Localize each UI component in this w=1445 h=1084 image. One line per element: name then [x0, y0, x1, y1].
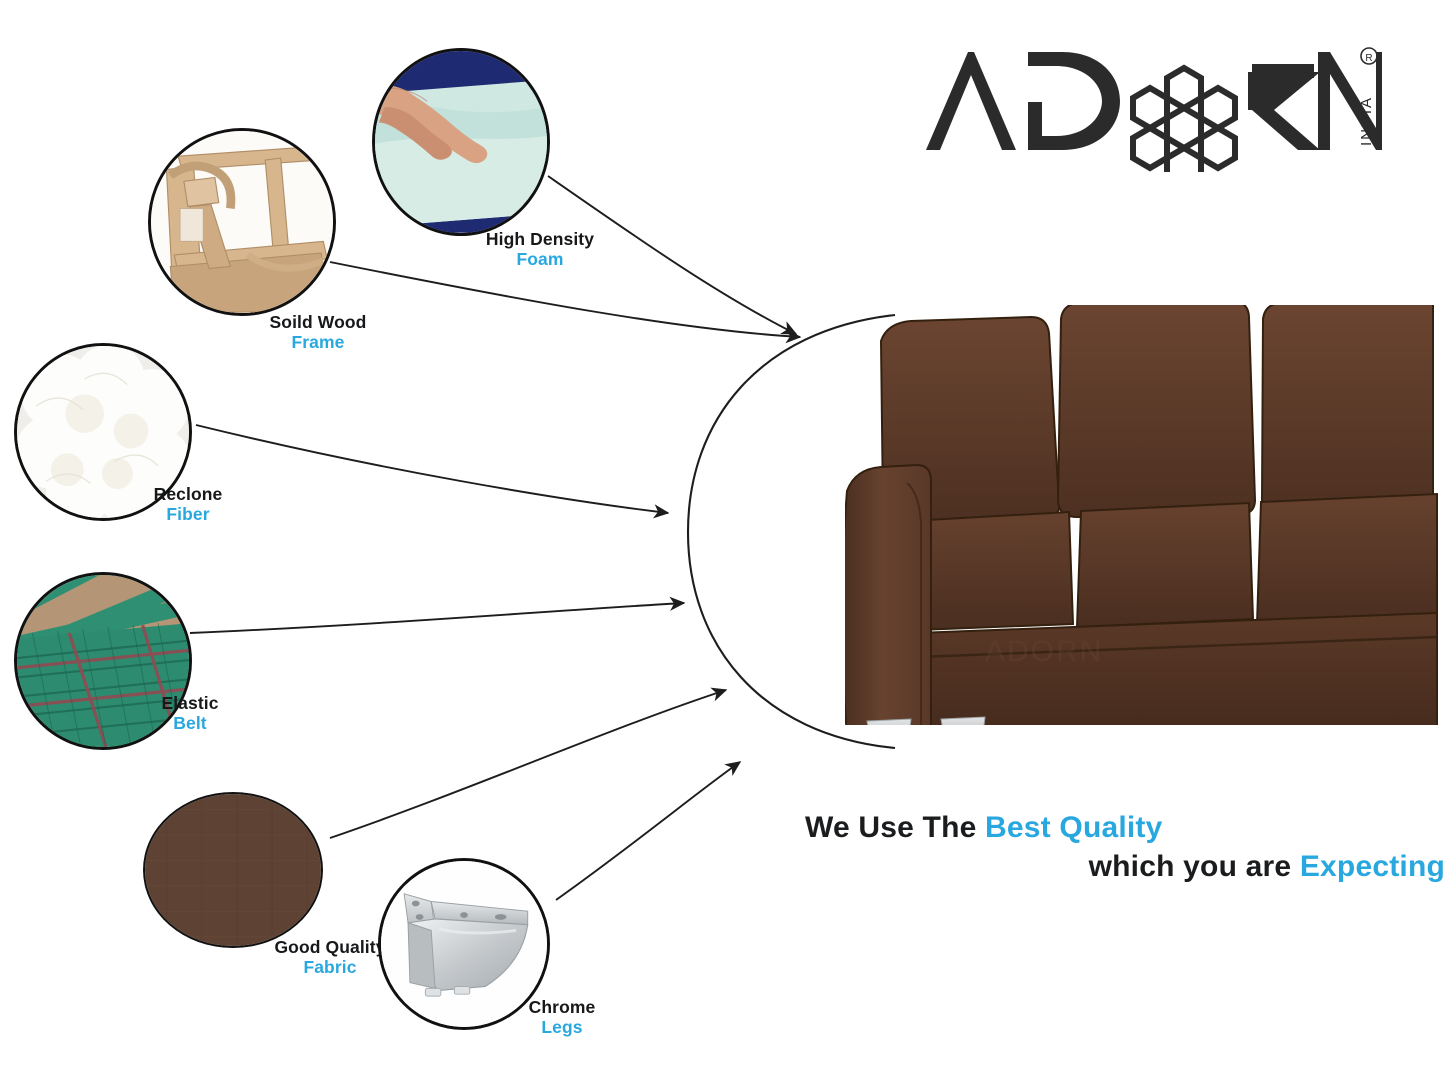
foam-hand-press-icon [375, 51, 547, 233]
arrow-legs [556, 762, 740, 900]
feature-circle-foam [372, 48, 550, 236]
svg-text:R: R [1365, 53, 1372, 64]
adorn-india-logo: INDIA R [922, 42, 1382, 172]
tagline-plain-2: which you are [1089, 850, 1300, 883]
tagline-line-2: which you are Expecting [805, 847, 1445, 886]
svg-text:ADORN: ADORN [985, 635, 1103, 668]
tagline-accent-1: Best Quality [985, 811, 1162, 844]
feature-circle-fabric [143, 792, 323, 948]
infographic-canvas: INDIA R [0, 0, 1445, 1084]
arrow-belt [190, 603, 684, 633]
svg-text:INDIA: INDIA [1358, 96, 1375, 146]
label-belt: Elastic Belt [120, 694, 260, 734]
tagline-line-1: We Use The Best Quality [805, 808, 1445, 847]
three-seater-sofa-image: ADORN [845, 305, 1445, 725]
brown-fabric-swatch-icon [145, 794, 321, 947]
wooden-sofa-frame-icon [151, 131, 333, 313]
arrow-fabric [330, 690, 726, 838]
label-frame: Soild Wood Frame [218, 313, 418, 353]
tagline-accent-2: Expecting [1300, 850, 1445, 883]
label-foam: High Density Foam [440, 230, 640, 270]
tagline-plain-1: We Use The [805, 811, 985, 844]
label-legs: Chrome Legs [492, 998, 632, 1038]
tagline: We Use The Best Quality which you are Ex… [805, 808, 1445, 886]
label-fiber: Reclone Fiber [108, 485, 268, 525]
feature-circle-frame [148, 128, 336, 316]
